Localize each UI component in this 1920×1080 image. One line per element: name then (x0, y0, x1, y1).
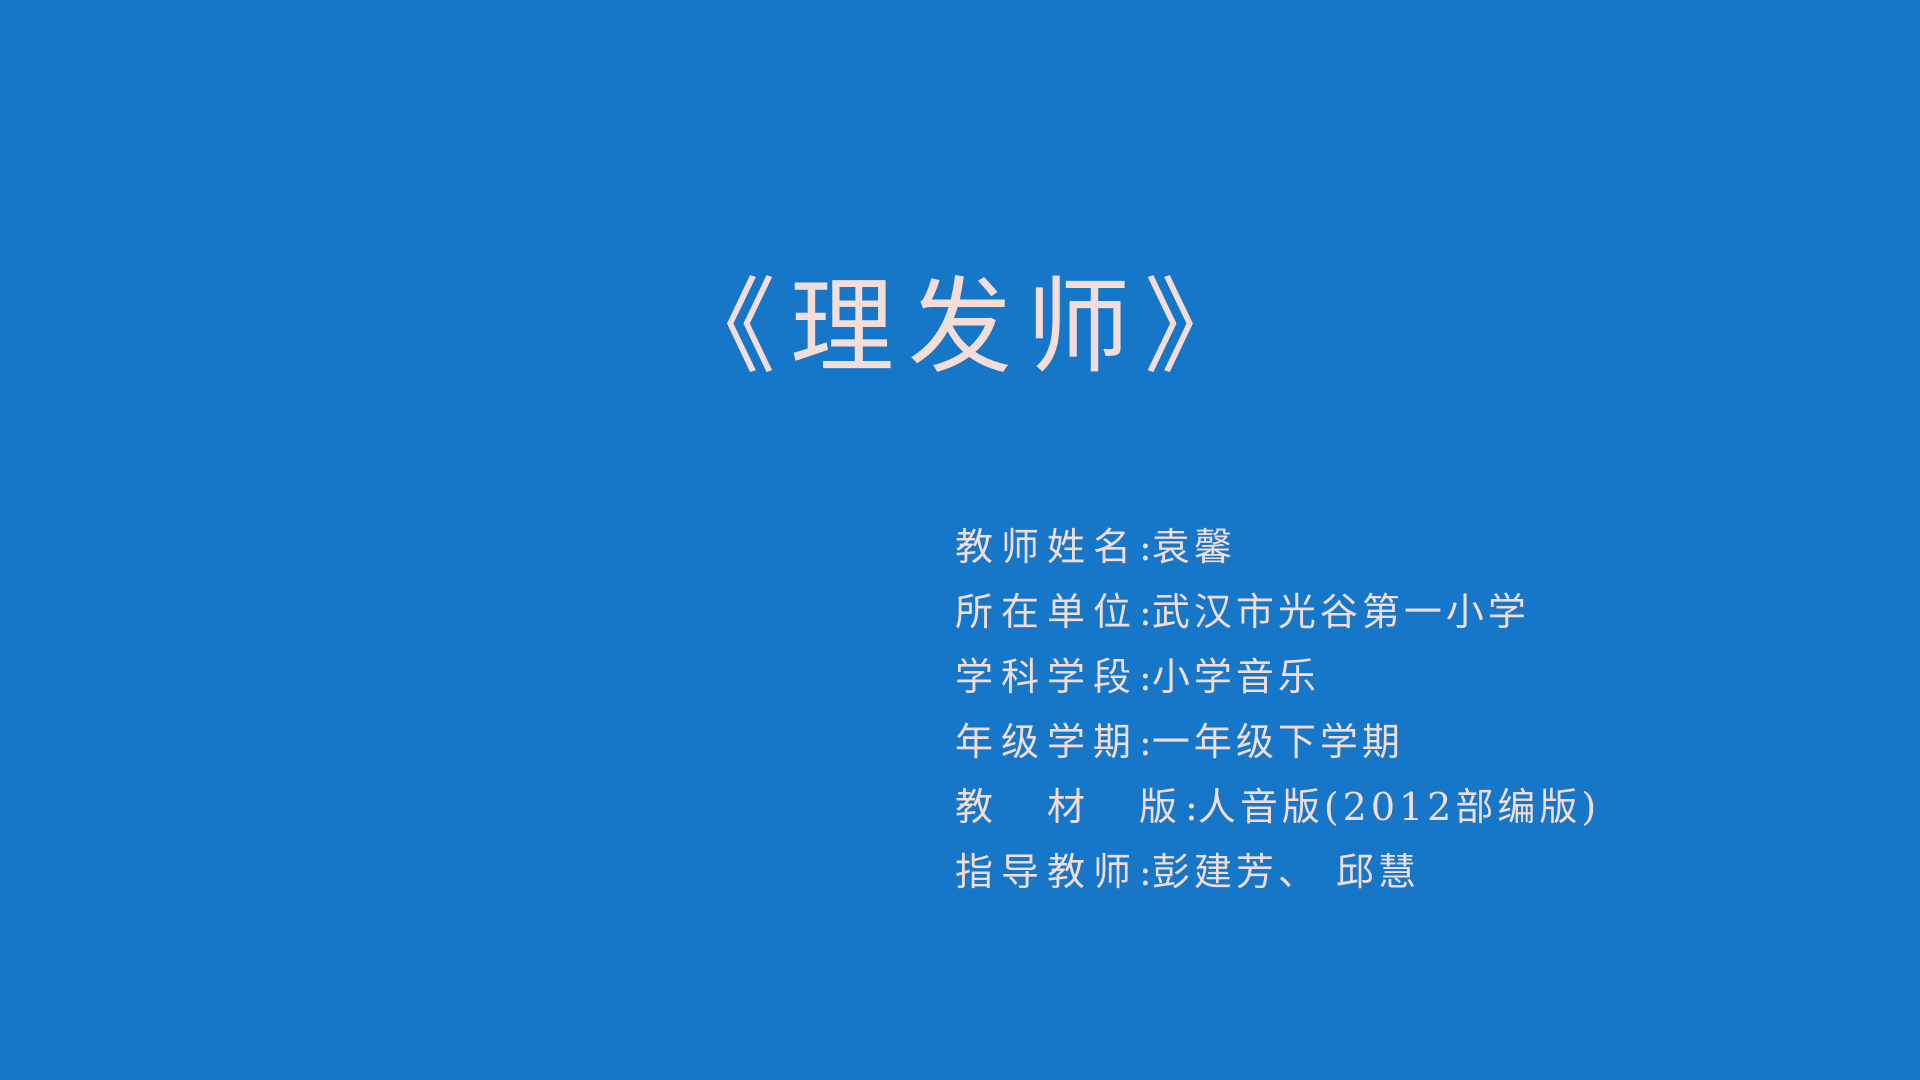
metadata-separator: : (1139, 590, 1152, 634)
metadata-value: 袁馨 (1152, 525, 1236, 569)
metadata-separator: : (1185, 785, 1198, 829)
metadata-row-grade-term: 年级学期:一年级下学期 (955, 710, 1855, 775)
metadata-label: 学科学段 (955, 655, 1139, 699)
page-title: 《理发师》 (658, 266, 1262, 389)
metadata-separator: : (1139, 850, 1152, 894)
metadata-separator: : (1139, 655, 1152, 699)
metadata-label: 教师姓名 (955, 525, 1139, 569)
metadata-label: 指导教师 (955, 850, 1139, 894)
metadata-separator: : (1139, 720, 1152, 764)
metadata-row-mentor-teachers: 指导教师:彭建芳、 邱慧 (955, 840, 1855, 905)
title-container: 《理发师》 (0, 196, 1920, 458)
metadata-row-subject: 学科学段:小学音乐 (955, 645, 1855, 710)
metadata-value: 一年级下学期 (1152, 720, 1404, 764)
metadata-label: 所在单位 (955, 590, 1139, 634)
metadata-row-school: 所在单位:武汉市光谷第一小学 (955, 580, 1855, 645)
metadata-label: 年级学期 (955, 720, 1139, 764)
metadata-label: 教 材 版 (955, 785, 1185, 829)
metadata-value: 彭建芳、 邱慧 (1152, 850, 1420, 894)
metadata-value: 小学音乐 (1152, 655, 1320, 699)
metadata-row-textbook-edition: 教 材 版:人音版(2012部编版) (955, 775, 1855, 840)
presentation-slide: 《理发师》 教师姓名:袁馨 所在单位:武汉市光谷第一小学 学科学段:小学音乐 年… (0, 0, 1920, 1080)
slide-metadata-block: 教师姓名:袁馨 所在单位:武汉市光谷第一小学 学科学段:小学音乐 年级学期:一年… (955, 515, 1855, 905)
metadata-row-teacher-name: 教师姓名:袁馨 (955, 515, 1855, 580)
metadata-separator: : (1139, 525, 1152, 569)
metadata-value: 武汉市光谷第一小学 (1152, 590, 1530, 634)
metadata-value: 人音版(2012部编版) (1198, 785, 1600, 829)
